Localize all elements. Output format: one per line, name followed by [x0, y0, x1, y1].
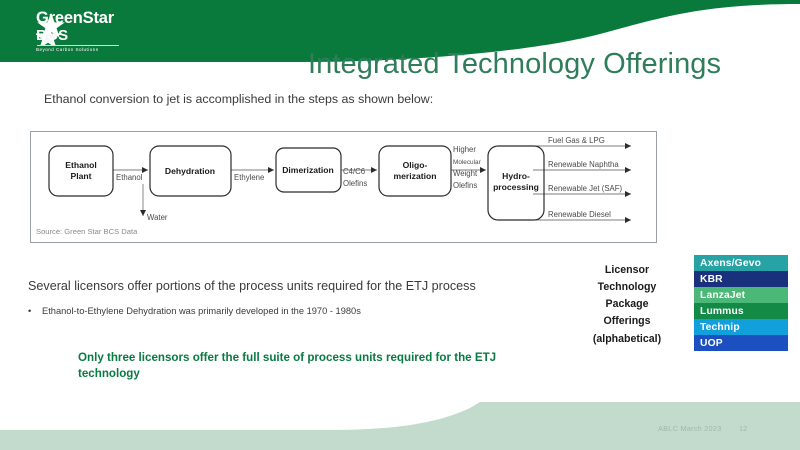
- svg-text:Weight: Weight: [453, 169, 478, 178]
- highlight-note: Only three licensors offer the full suit…: [78, 350, 498, 382]
- svg-text:Renewable Naphtha: Renewable Naphtha: [548, 160, 619, 169]
- licensor-item-lanzajet[interactable]: LanzaJet: [694, 287, 788, 303]
- licensor-caption-line-5: (alphabetical): [572, 331, 682, 348]
- body-heading: Several licensors offer portions of the …: [28, 279, 476, 293]
- svg-text:Molecular: Molecular: [453, 159, 482, 166]
- licensor-caption-line-3: Package: [572, 296, 682, 313]
- svg-text:Ethanol: Ethanol: [116, 173, 143, 182]
- svg-text:Water: Water: [147, 213, 168, 222]
- process-flow-svg: EthanolPlant Dehydration Dimerization Ol…: [31, 132, 656, 242]
- svg-text:Dimerization: Dimerization: [282, 165, 334, 175]
- licensor-item-axens-gevo[interactable]: Axens/Gevo: [694, 255, 788, 271]
- diagram-source-note: Source: Green Star BCS Data: [36, 227, 137, 236]
- licensor-caption-line-4: Offerings: [572, 313, 682, 330]
- svg-text:Ethylene: Ethylene: [234, 173, 264, 182]
- body-bullet-text: Ethanol-to-Ethylene Dehydration was prim…: [42, 306, 361, 316]
- svg-text:Renewable Jet (SAF): Renewable Jet (SAF): [548, 184, 623, 193]
- licensor-list: Axens/Gevo KBR LanzaJet Lummus Technip U…: [694, 255, 788, 351]
- svg-text:Olefins: Olefins: [453, 181, 477, 190]
- footer-event-label: ABLC March 2023: [658, 424, 721, 433]
- brand-logo: GreenStar BCS Beyond Carbon Solutions: [36, 10, 196, 52]
- licensor-item-kbr[interactable]: KBR: [694, 271, 788, 287]
- licensor-caption-line-2: Technology: [572, 279, 682, 296]
- star-icon: [36, 13, 66, 45]
- svg-text:Ethanol: Ethanol: [65, 160, 97, 170]
- licensor-item-uop[interactable]: UOP: [694, 335, 788, 351]
- svg-text:processing: processing: [493, 182, 539, 192]
- svg-text:Plant: Plant: [70, 171, 91, 181]
- svg-text:Renewable Diesel: Renewable Diesel: [548, 210, 611, 219]
- intro-text: Ethanol conversion to jet is accomplishe…: [44, 92, 433, 106]
- bullet-marker-icon: •: [28, 306, 42, 316]
- brand-divider: [37, 45, 119, 46]
- licensor-item-lummus[interactable]: Lummus: [694, 303, 788, 319]
- svg-text:C4/C6: C4/C6: [343, 167, 365, 176]
- licensor-panel-caption: Licensor Technology Package Offerings (a…: [572, 262, 682, 348]
- brand-tagline: Beyond Carbon Solutions: [36, 48, 119, 53]
- svg-text:Olefins: Olefins: [343, 179, 367, 188]
- body-bullet-item: • Ethanol-to-Ethylene Dehydration was pr…: [28, 306, 361, 316]
- svg-text:Hydro-: Hydro-: [502, 171, 530, 181]
- licensor-item-technip[interactable]: Technip: [694, 319, 788, 335]
- footer-page-number: 12: [739, 424, 747, 433]
- licensor-caption-line-1: Licensor: [572, 262, 682, 279]
- svg-text:merization: merization: [394, 171, 437, 181]
- svg-text:Oligo-: Oligo-: [403, 160, 428, 170]
- page-title: Integrated Technology Offerings: [308, 48, 721, 81]
- svg-text:Higher: Higher: [453, 145, 476, 154]
- svg-text:Fuel Gas & LPG: Fuel Gas & LPG: [548, 136, 605, 145]
- svg-text:Dehydration: Dehydration: [165, 166, 215, 176]
